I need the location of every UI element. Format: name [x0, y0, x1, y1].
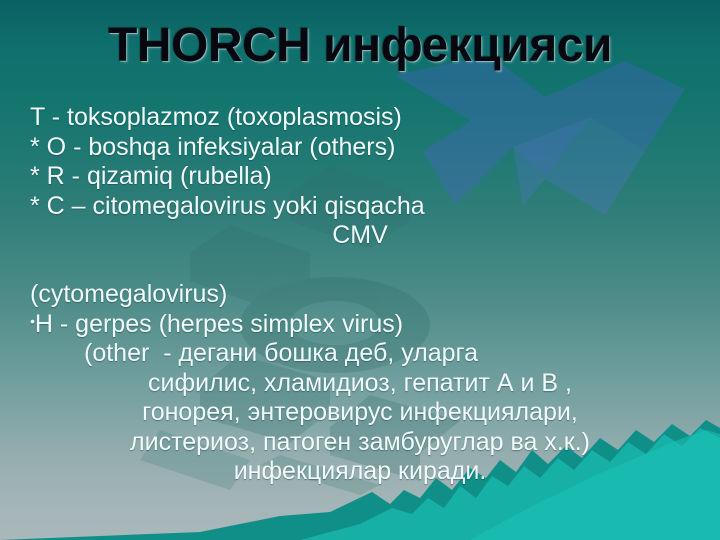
presentation-slide: THORCH инфекцияси T - toksoplazmoz (toxo… [0, 0, 720, 540]
page-title: THORCH инфекцияси [0, 21, 720, 71]
body-line: * R - qizamiq (rubella) [0, 162, 720, 192]
body-line: (cytomegalovirus) [0, 280, 720, 310]
body-line: T - toksoplazmoz (toxoplasmosis) [0, 103, 720, 133]
body-line: гонорея, энтеровирус инфекциялари, [0, 398, 720, 428]
body-line: сифилис, хламидиоз, гепатит А и В , [0, 369, 720, 399]
body-line-cmv: CMV [0, 221, 720, 251]
body-line: * C – citomegalovirus yoki qisqacha [0, 192, 720, 222]
body-line-spacer [0, 251, 720, 281]
slide-body-text: T - toksoplazmoz (toxoplasmosis) * O - b… [0, 103, 720, 487]
body-line-text: H - gerpes (herpes simplex virus) [35, 310, 403, 338]
body-line: инфекциялар киради. [0, 457, 720, 487]
body-line-bulleted: •H - gerpes (herpes simplex virus) [0, 310, 720, 340]
body-line: листериоз, патоген замбуруглар ва х.к.) [0, 428, 720, 458]
body-line: (other - дегани бошка деб, уларга [0, 339, 720, 369]
body-line: * O - boshqa infeksiyalar (others) [0, 133, 720, 163]
